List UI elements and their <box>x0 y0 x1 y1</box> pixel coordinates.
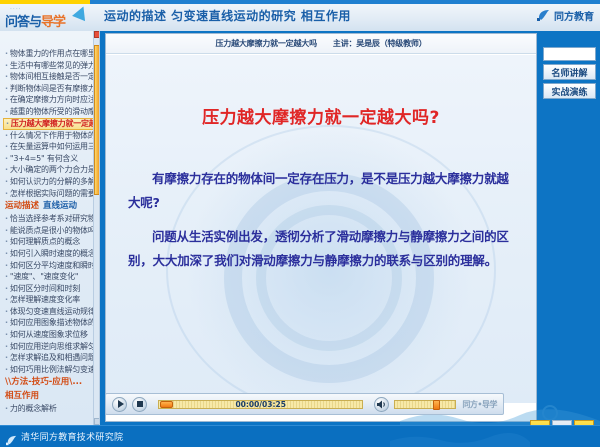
slide-paragraph-2: 问题从生活实例出发，透彻分析了滑动摩擦力与静摩擦力之间的区别，大大加深了我们对滑… <box>128 225 514 273</box>
player-brand: 同方•导学 <box>462 399 497 410</box>
sidebar-item[interactable]: 越重的物体所受的滑动摩 <box>3 106 96 118</box>
sidebar-item[interactable]: 如何认识力的分解的多解 <box>3 176 96 188</box>
video-player-controls[interactable]: 00:00/03:25 同方•导学 <box>105 393 504 415</box>
corp-name: 同方教育 <box>554 8 594 23</box>
app-header: ···· 问答与导学 运动的描述 匀变速直线运动的研究 相互作用 同方教育 <box>0 0 600 31</box>
logo-arrow-icon <box>72 4 90 21</box>
slide-header: 压力越大摩擦力就一定越大吗 主讲：吴是辰（特级教师） <box>106 34 536 54</box>
progress-slider[interactable]: 00:00/03:25 <box>158 400 363 409</box>
sidebar-item[interactable]: 如何应用图象描述物体的 <box>3 317 96 329</box>
slide-paragraph-1: 有摩擦力存在的物体间一定存在压力，是不是压力越大摩擦力就越大呢? <box>128 167 514 215</box>
scroll-down-arrow[interactable] <box>94 418 100 425</box>
sidebar-list[interactable]: 物体重力的作用点在哪里生活中有哪些常见的弹力物体间相互接触是否一定判断物体间是否… <box>0 48 99 415</box>
sidebar-item[interactable]: 如何巧用比例法解匀变速 <box>3 364 96 376</box>
volume-slider[interactable] <box>394 400 456 409</box>
sidebar-item[interactable]: "速度"、"速度变化" <box>3 271 96 283</box>
sidebar-scrollbar[interactable] <box>93 31 99 425</box>
sidebar-item[interactable]: 体现匀变速直线运动规律 <box>3 306 96 318</box>
sidebar-item[interactable]: 如何引入瞬时速度的概念 <box>3 248 96 260</box>
sidebar-item[interactable]: 怎样根据实际问题的需要 <box>3 188 96 200</box>
side-panel-blank-slot <box>543 47 596 61</box>
slide-frame: 压力越大摩擦力就一定越大吗 主讲：吴是辰（特级教师） 压力越大摩擦力就一定越大吗… <box>105 33 537 422</box>
play-button[interactable] <box>112 397 127 412</box>
header-accent-bar-blue <box>90 0 600 4</box>
sidebar-item[interactable]: 力的概念解析 <box>3 403 96 415</box>
slide-teacher: 主讲：吴是辰（特级教师） <box>333 38 427 49</box>
scroll-thumb[interactable] <box>94 45 100 195</box>
sidebar-item[interactable]: 物体间相互接触是否一定 <box>3 71 96 83</box>
play-icon <box>118 400 124 408</box>
slide-title: 压力越大摩擦力就一定越大吗? <box>106 103 536 128</box>
footer-wave-decor <box>390 425 530 447</box>
sidebar-section-header: 运动描述直线运动 <box>3 200 96 213</box>
slide-subtitle: 压力越大摩擦力就一定越大吗 <box>215 38 316 49</box>
sidebar-item[interactable]: 怎样理解速度变化率 <box>3 294 96 306</box>
sidebar-item[interactable]: 如何应用逆向思维求解匀 <box>3 341 96 353</box>
brand-logo-highlight: 导学 <box>41 15 65 30</box>
sidebar[interactable]: 物体重力的作用点在哪里生活中有哪些常见的弹力物体间相互接触是否一定判断物体间是否… <box>0 31 100 425</box>
sidebar-item[interactable]: 物体重力的作用点在哪里 <box>3 48 96 60</box>
speaker-icon <box>377 400 387 409</box>
main-stage: 压力越大摩擦力就一定越大吗 主讲：吴是辰（特级教师） 压力越大摩擦力就一定越大吗… <box>101 31 600 425</box>
sidebar-item-active[interactable]: 压力越大摩擦力就一定越 <box>3 118 96 130</box>
corp-logo: 同方教育 <box>537 8 594 23</box>
scroll-up-arrow[interactable] <box>94 31 100 38</box>
page-title: 运动的描述 匀变速直线运动的研究 相互作用 <box>104 7 351 24</box>
sidebar-section-header: \\方法-技巧-应用\... <box>3 376 96 389</box>
practice-button[interactable]: 实战演练 <box>543 83 596 99</box>
volume-knob[interactable] <box>433 400 440 410</box>
sidebar-item[interactable]: 恰当选择参考系对研究物 <box>3 213 96 225</box>
slide-body: 压力越大摩擦力就一定越大吗? 有摩擦力存在的物体间一定存在压力，是不是压力越大摩… <box>106 55 536 403</box>
mute-button[interactable] <box>374 397 389 412</box>
sidebar-item[interactable]: "3+4=5" 有何含义 <box>3 153 96 165</box>
footer-text: 清华同方教育技术研究院 <box>21 430 123 443</box>
sidebar-item[interactable]: 如何区分平均速度和瞬时 <box>3 260 96 272</box>
sidebar-item[interactable]: 在确定摩擦力方向时应注 <box>3 94 96 106</box>
sidebar-item[interactable]: 什么情况下作用于物体的 <box>3 130 96 142</box>
progress-knob[interactable] <box>160 401 173 408</box>
lecture-button[interactable]: 名师讲解 <box>543 64 596 80</box>
sidebar-item[interactable]: 如何从速度图象求位移 <box>3 329 96 341</box>
sidebar-item[interactable]: 生活中有哪些常见的弹力 <box>3 60 96 72</box>
brand-logo: ···· 问答与导学 <box>4 5 100 31</box>
time-display: 00:00/03:25 <box>235 400 286 409</box>
footer-logo-icon <box>6 431 17 442</box>
brand-logo-text: 问答与导学 <box>5 11 65 30</box>
stop-button[interactable] <box>132 397 147 412</box>
side-button-panel[interactable]: 名师讲解 实战演练 <box>543 47 596 102</box>
app-footer: 清华同方教育技术研究院 <box>0 425 600 447</box>
sidebar-item[interactable]: 如何理解质点的概念 <box>3 236 96 248</box>
sidebar-item[interactable]: 如何区分时间和时刻 <box>3 283 96 295</box>
sidebar-item[interactable]: 怎样求解追及和相遇问题 <box>3 352 96 364</box>
sidebar-item[interactable]: 在矢量运算中如何运用三 <box>3 141 96 153</box>
sidebar-item[interactable]: 能说质点是很小的物体吗 <box>3 225 96 237</box>
stop-icon <box>137 401 143 407</box>
sidebar-section-header: 相互作用 <box>3 390 96 403</box>
sidebar-item[interactable]: 大小确定的两个力合力是 <box>3 164 96 176</box>
sidebar-item[interactable]: 判断物体间是否有摩擦力 <box>3 83 96 95</box>
tongfang-mark-icon <box>537 9 550 22</box>
